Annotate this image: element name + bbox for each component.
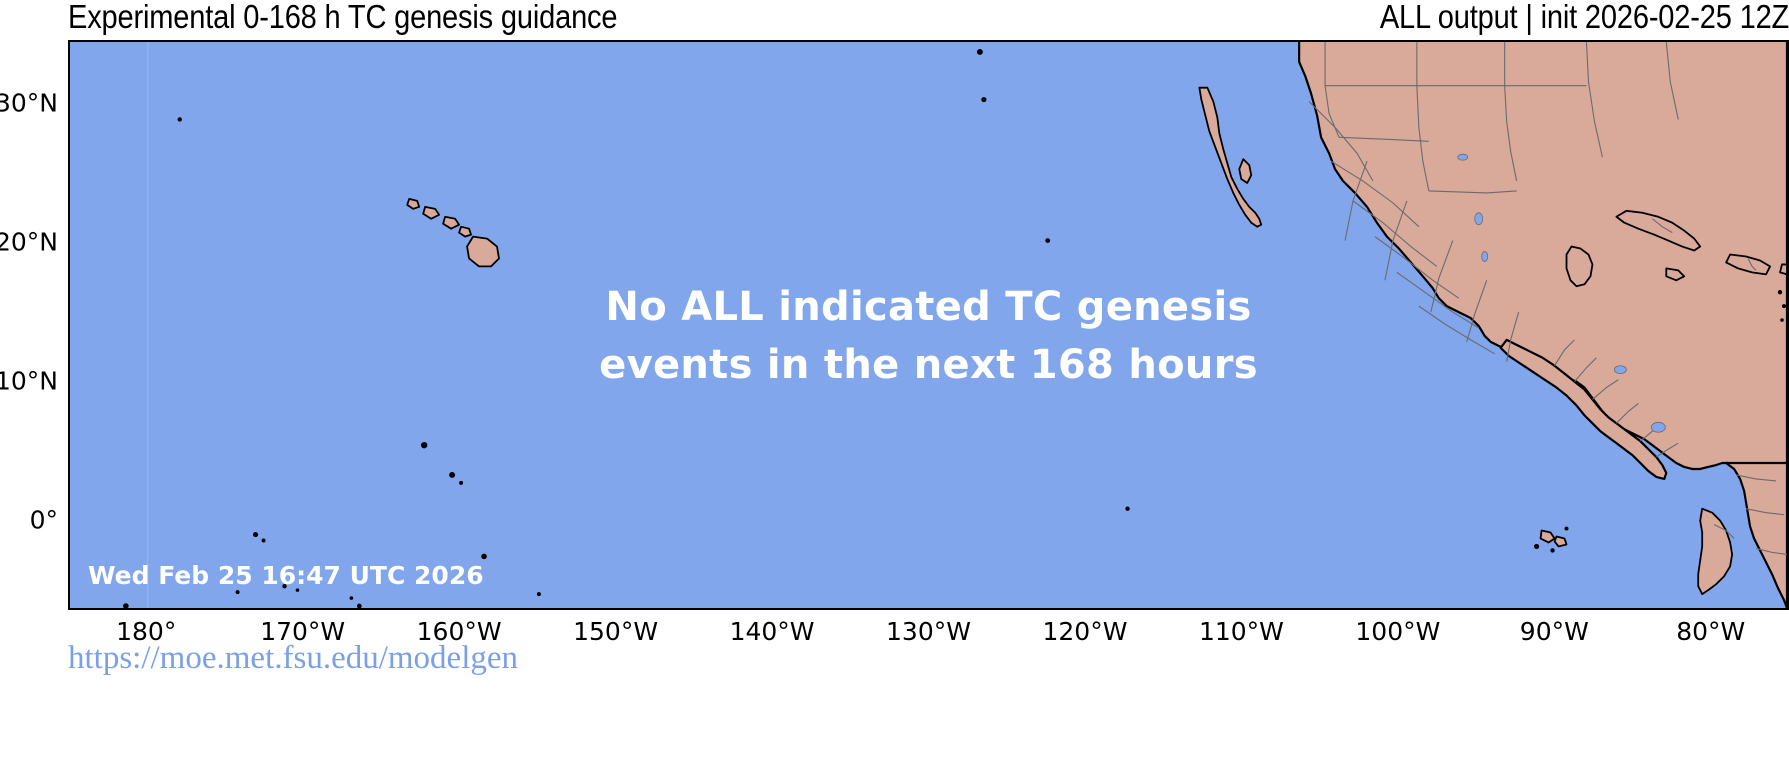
- longitude-tick-7: 110°W: [1199, 617, 1284, 646]
- latitude-tick-3: 0°: [30, 505, 58, 534]
- longitude-tick-3: 150°W: [573, 617, 658, 646]
- latitude-tick-0: 30°N: [0, 88, 58, 117]
- map-panel[interactable]: .land { fill: #d9a99a; stroke: #000000; …: [68, 40, 1789, 610]
- longitude-tick-6: 120°W: [1042, 617, 1127, 646]
- latitude-tick-1: 20°N: [0, 227, 58, 256]
- page-title: Experimental 0-168 h TC genesis guidance: [68, 0, 617, 36]
- header-model-init-label: ALL output | init 2026-02-25 12Z: [1380, 0, 1789, 36]
- latitude-axis: 30°N20°N10°N0°: [0, 40, 58, 610]
- genesis-guidance-map-page: Experimental 0-168 h TC genesis guidance…: [0, 0, 1789, 768]
- longitude-tick-10: 80°W: [1676, 617, 1745, 646]
- source-url-label[interactable]: https://moe.met.fsu.edu/modelgen: [68, 640, 518, 677]
- map-graphic: .land { fill: #d9a99a; stroke: #000000; …: [70, 42, 1787, 608]
- timestamp-label: Wed Feb 25 16:47 UTC 2026: [88, 561, 484, 590]
- longitude-tick-8: 100°W: [1355, 617, 1440, 646]
- header: Experimental 0-168 h TC genesis guidance…: [0, 0, 1789, 40]
- latitude-tick-2: 10°N: [0, 366, 58, 395]
- longitude-tick-9: 90°W: [1520, 617, 1589, 646]
- longitude-tick-4: 140°W: [730, 617, 815, 646]
- longitude-tick-5: 130°W: [886, 617, 971, 646]
